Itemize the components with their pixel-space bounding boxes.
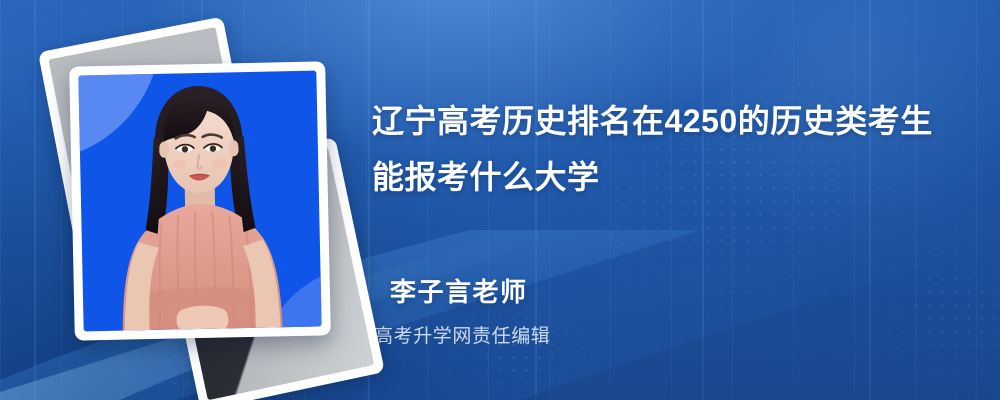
article-cover-banner: 辽宁高考历史排名在4250的历史类考生能报考什么大学 李子言老师 高考升学网责任…	[0, 0, 1000, 400]
banner-text-column: 辽宁高考历史排名在4250的历史类考生能报考什么大学 李子言老师 高考升学网责任…	[372, 0, 972, 400]
photo-card-front	[69, 61, 331, 340]
portrait-photo	[78, 71, 321, 332]
author-name: 李子言老师	[390, 272, 528, 309]
author-role: 高考升学网责任编辑	[374, 321, 550, 348]
photo-card-stack	[46, 22, 366, 382]
page-title: 辽宁高考历史排名在4250的历史类考生能报考什么大学	[372, 93, 962, 205]
teacher-portrait-illustration	[78, 71, 321, 332]
